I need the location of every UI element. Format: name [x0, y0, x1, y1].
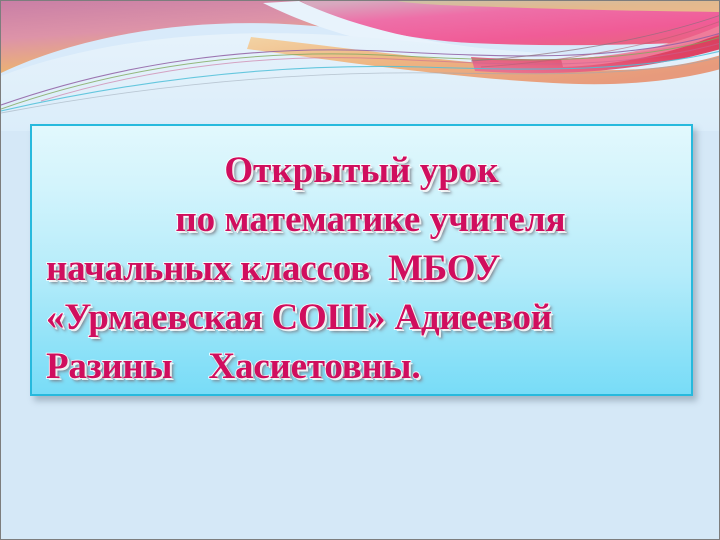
- wave-tan-strip: [397, 1, 720, 12]
- strand-pink: [41, 43, 720, 101]
- title-line-1: Открытый урок: [42, 146, 681, 195]
- wave-main-body: [1, 33, 720, 131]
- wave-pink-highlight: [561, 25, 720, 67]
- wave-pink-mass: [1, 1, 720, 73]
- strand-purple: [1, 33, 720, 105]
- title-line-5: Разины Хасиетовны.: [42, 342, 681, 391]
- wave-ribbon-decoration: [1, 1, 720, 131]
- wave-orange-band: [247, 37, 720, 84]
- strand-upper-right-1: [471, 15, 720, 61]
- title-line-4: «Урмаевская СОШ» Адиеевой: [42, 293, 681, 342]
- strand-upper-right-2: [481, 21, 720, 67]
- strand-cyan: [1, 51, 720, 111]
- title-line-2: по математике учителя: [42, 195, 681, 244]
- wave-white-wedge: [263, 1, 720, 64]
- wave-magenta-ribbon: [301, 1, 720, 45]
- presentation-slide: Открытый урок по математике учителя нача…: [0, 0, 720, 540]
- strand-grey: [1, 57, 720, 113]
- strand-green: [1, 37, 720, 109]
- title-text-box[interactable]: Открытый урок по математике учителя нача…: [30, 124, 693, 396]
- title-line-3: начальных классов МБОУ: [42, 244, 681, 293]
- wave-red-band: [471, 35, 720, 73]
